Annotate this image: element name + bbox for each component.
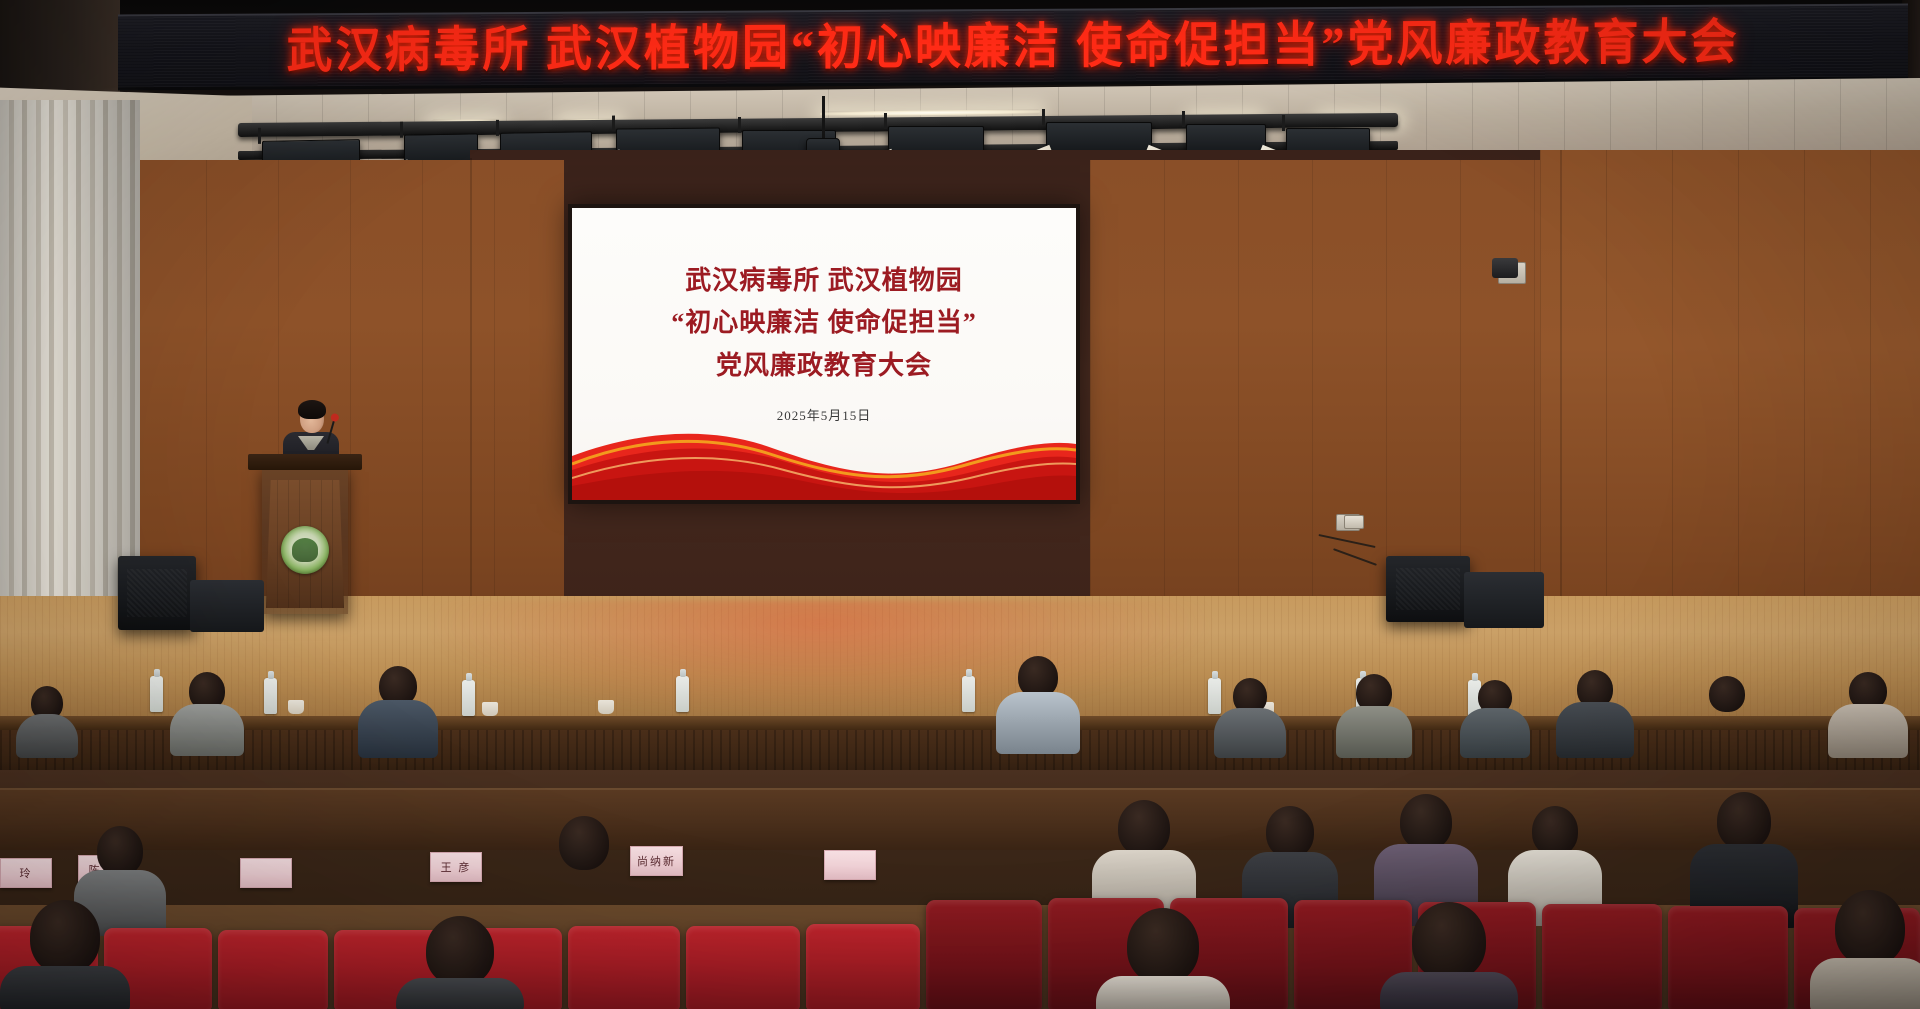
- audience-person-front: [396, 916, 524, 1009]
- audience-person: [1336, 674, 1412, 758]
- floor-speaker: [118, 556, 196, 630]
- audience-person: [16, 686, 78, 756]
- wall-speaker-icon: [1492, 258, 1518, 278]
- led-banner-text: 武汉病毒所 武汉植物园“初心映廉洁 使命促担当”党风廉政教育大会: [287, 18, 1740, 76]
- floor-speaker: [1386, 556, 1470, 622]
- paper-cup: [482, 702, 498, 716]
- audience-seat: [1542, 904, 1662, 1009]
- led-banner: 武汉病毒所 武汉植物园“初心映廉洁 使命促担当”党风廉政教育大会: [118, 4, 1908, 91]
- water-bottle: [150, 676, 163, 712]
- paper-cup: [598, 700, 614, 714]
- stage-floor-light-reflection: [430, 600, 1210, 720]
- audience-seat: [806, 924, 920, 1009]
- floor-speaker-monitor: [1464, 572, 1544, 628]
- nameplate: [824, 850, 876, 880]
- nameplate: 尚纳新: [630, 846, 683, 876]
- light-hanger-rod: [822, 96, 825, 140]
- water-bottle: [676, 676, 689, 712]
- conference-hall-photo: 武汉病毒所 武汉植物园“初心映廉洁 使命促担当”党风廉政教育大会: [0, 0, 1920, 1009]
- audience-person: [996, 656, 1080, 754]
- audience-table-row: [0, 788, 1920, 850]
- audience-person-front: [1096, 908, 1230, 1009]
- audience-person-front: [0, 900, 130, 1009]
- audience-seat: [686, 926, 800, 1009]
- nameplate: 玲: [0, 858, 52, 888]
- slide-line-2: “初心映廉洁 使命促担当”: [671, 306, 977, 340]
- audience-person: [1460, 680, 1530, 758]
- banner-left-wall: [0, 0, 120, 96]
- audience-person: [1828, 672, 1908, 758]
- audience-person-front: [1380, 902, 1518, 1009]
- audience-person: [1214, 678, 1286, 758]
- water-bottle: [962, 676, 975, 712]
- nameplate: 王 彦: [430, 852, 482, 882]
- podium-crest-icon: [281, 526, 329, 574]
- wall-outlet-panel: [1344, 515, 1364, 529]
- audience-seat: [1668, 906, 1788, 1009]
- nameplate: [240, 858, 292, 888]
- paper-cup: [288, 700, 304, 714]
- audience-seat: [568, 926, 680, 1009]
- audience-person: [1556, 670, 1634, 758]
- projection-screen-frame: 武汉病毒所 武汉植物园 “初心映廉洁 使命促担当” 党风廉政教育大会 2025年…: [568, 204, 1080, 504]
- slide-line-3: 党风廉政教育大会: [716, 349, 932, 383]
- audience-person: [358, 666, 438, 758]
- podium: [262, 466, 348, 614]
- water-bottle: [462, 680, 475, 716]
- audience-person: [1690, 676, 1764, 758]
- podium-top-surface: [248, 454, 362, 470]
- projection-screen: 武汉病毒所 武汉植物园 “初心映廉洁 使命促担当” 党风廉政教育大会 2025年…: [572, 208, 1076, 500]
- audience-person-front: [1810, 890, 1920, 1009]
- presenter-hair: [298, 400, 326, 419]
- podium-body: [266, 480, 344, 608]
- ribbon-svg: [572, 414, 1076, 500]
- slide-line-1: 武汉病毒所 武汉植物园: [685, 264, 963, 298]
- audience-person: [170, 672, 244, 756]
- floor-speaker-monitor: [190, 580, 264, 632]
- water-bottle: [264, 678, 277, 714]
- audience-seat: [218, 930, 328, 1009]
- slide-ribbon-graphic: [572, 414, 1076, 500]
- audience-seat: [926, 900, 1042, 1009]
- audience-person: [534, 816, 634, 936]
